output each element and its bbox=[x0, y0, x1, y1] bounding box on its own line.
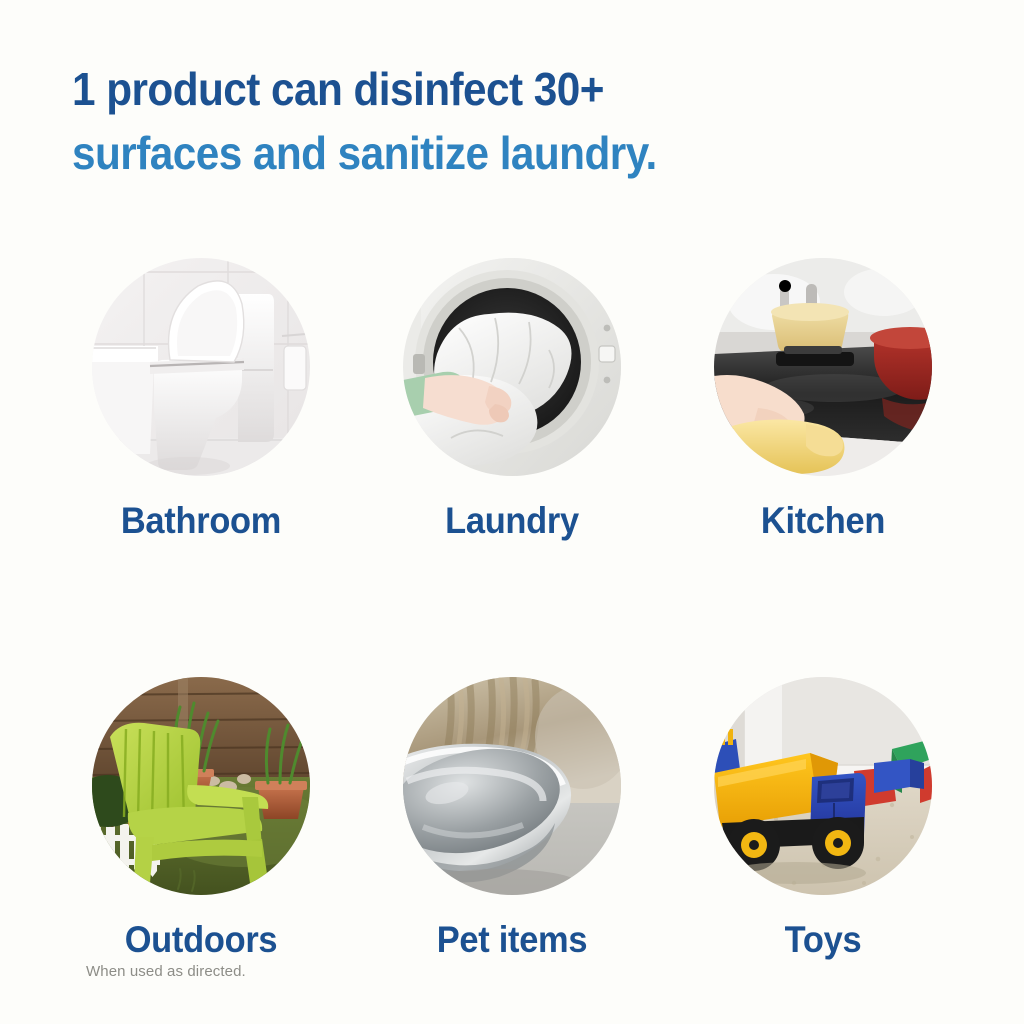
surface-tile-grid: Bathroom bbox=[0, 258, 1024, 961]
tile-kitchen[interactable]: Kitchen bbox=[714, 258, 932, 542]
tile-label-pet-items: Pet items bbox=[411, 919, 614, 961]
tile-outdoors[interactable]: Outdoors bbox=[92, 677, 310, 961]
tile-label-outdoors: Outdoors bbox=[100, 919, 303, 961]
pet-items-photo bbox=[403, 677, 621, 895]
kitchen-photo bbox=[714, 258, 932, 476]
bathroom-photo bbox=[92, 258, 310, 476]
tile-label-kitchen: Kitchen bbox=[722, 500, 925, 542]
footnote-disclaimer: When used as directed. bbox=[86, 963, 246, 980]
page-headline: 1 product can disinfect 30+ surfaces and… bbox=[72, 66, 972, 176]
tile-pet-items[interactable]: Pet items bbox=[403, 677, 621, 961]
tile-label-toys: Toys bbox=[722, 919, 925, 961]
tile-bathroom[interactable]: Bathroom bbox=[92, 258, 310, 542]
headline-line-1: 1 product can disinfect 30+ bbox=[72, 66, 900, 112]
tile-label-bathroom: Bathroom bbox=[100, 500, 303, 542]
outdoors-photo bbox=[92, 677, 310, 895]
headline-line-2: surfaces and sanitize laundry. bbox=[72, 130, 900, 176]
tile-row: Outdoors bbox=[0, 677, 1024, 961]
tile-laundry[interactable]: Laundry bbox=[403, 258, 621, 542]
tile-row: Bathroom bbox=[0, 258, 1024, 542]
laundry-photo bbox=[403, 258, 621, 476]
tile-toys[interactable]: Toys bbox=[714, 677, 932, 961]
tile-label-laundry: Laundry bbox=[411, 500, 614, 542]
toys-photo bbox=[714, 677, 932, 895]
